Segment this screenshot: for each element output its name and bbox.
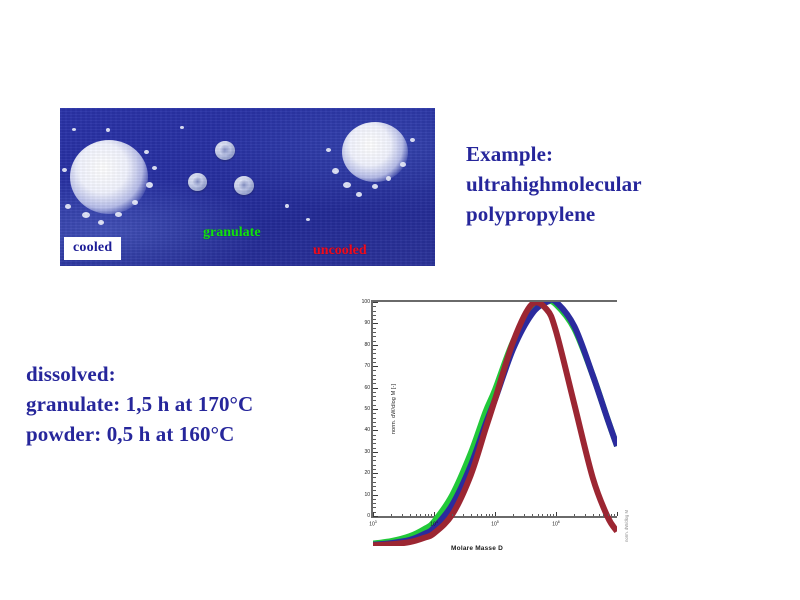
- x-tick: [574, 514, 575, 517]
- powder-fleck: [152, 166, 157, 170]
- y-tick: [373, 435, 376, 436]
- x-tick: [489, 514, 490, 517]
- y-tick: [373, 499, 376, 500]
- y-tick: [373, 430, 378, 431]
- x-tick: [608, 514, 609, 517]
- photo-caption-cooled: cooled: [64, 237, 121, 260]
- y-tick: [373, 362, 376, 363]
- y-tick: [373, 439, 376, 440]
- x-tick-label: 105: [491, 520, 499, 528]
- y-tick: [373, 323, 378, 324]
- x-tick: [452, 514, 453, 517]
- x-tick: [477, 514, 478, 517]
- y-tick: [373, 400, 376, 401]
- x-tick: [553, 514, 554, 517]
- y-tick: [373, 426, 376, 427]
- powder-fleck: [115, 212, 122, 217]
- powder-fleck: [400, 162, 406, 167]
- powder-fleck: [72, 128, 76, 131]
- y-tick: [373, 302, 378, 303]
- powder-fleck: [285, 204, 289, 208]
- y-tick: [373, 495, 378, 496]
- powder-fleck: [180, 126, 184, 129]
- x-tick: [420, 514, 421, 517]
- powder-fleck: [332, 168, 339, 174]
- y-tick: [373, 448, 376, 449]
- x-tick: [617, 512, 618, 516]
- powder-fleck: [62, 168, 67, 172]
- x-tick: [614, 514, 615, 517]
- photo-caption-uncooled: uncooled: [313, 243, 367, 259]
- granulate-pellet: [188, 173, 207, 191]
- y-tick: [373, 328, 376, 329]
- x-tick: [434, 512, 435, 516]
- powder-fleck: [372, 184, 378, 189]
- x-tick: [425, 514, 426, 517]
- granulate-pellet: [215, 141, 235, 160]
- y-tick: [373, 477, 376, 478]
- x-tick-label: 103: [369, 520, 377, 528]
- x-tick: [550, 514, 551, 517]
- x-tick: [410, 514, 411, 517]
- y-tick: [373, 315, 376, 316]
- x-tick: [431, 514, 432, 517]
- powder-fleck: [98, 220, 104, 225]
- x-tick: [599, 514, 600, 517]
- y-tick: [373, 443, 376, 444]
- powder-fleck: [356, 192, 362, 197]
- y-tick: [373, 490, 376, 491]
- y-tick: [373, 332, 376, 333]
- x-tick: [585, 514, 586, 517]
- powder-fleck: [144, 150, 149, 154]
- x-axis-label: Molare Masse D: [333, 545, 621, 552]
- y-tick: [373, 375, 376, 376]
- y-tick: [373, 516, 378, 517]
- x-tick-label: 106: [552, 520, 560, 528]
- y-tick: [373, 473, 378, 474]
- uncooled-powder-heap: [342, 122, 408, 182]
- y-tick: [373, 370, 376, 371]
- x-tick: [538, 514, 539, 517]
- x-tick: [402, 514, 403, 517]
- x-tick: [471, 514, 472, 517]
- example-text-block: Example: ultrahighmolecular polypropylen…: [466, 140, 642, 229]
- y-tick-label: 40: [364, 427, 370, 433]
- dissolved-line-3: powder: 0,5 h at 160°C: [26, 420, 253, 450]
- x-tick: [524, 514, 525, 517]
- distribution-curves: [373, 302, 617, 546]
- powder-fleck: [106, 128, 110, 132]
- y-tick: [373, 418, 376, 419]
- y-tick: [373, 336, 376, 337]
- polypropylene-samples-photo: cooled granulate uncooled: [60, 108, 435, 266]
- y-tick: [373, 465, 376, 466]
- y-tick: [373, 379, 376, 380]
- y-tick-label: 20: [364, 470, 370, 476]
- slide-canvas: cooled granulate uncooled Example: ultra…: [0, 0, 800, 600]
- plot-frame: norm. dW/dlog M [-] 01020304050607080901…: [371, 300, 617, 518]
- powder-fleck: [82, 212, 90, 218]
- x-tick: [416, 514, 417, 517]
- x-tick: [532, 514, 533, 517]
- x-tick: [492, 514, 493, 517]
- dissolved-line-1: dissolved:: [26, 360, 253, 390]
- powder-fleck: [146, 182, 153, 188]
- granulate-pellet: [234, 176, 254, 195]
- x-tick: [556, 512, 557, 516]
- powder-fleck: [386, 176, 391, 181]
- x-tick: [486, 514, 487, 517]
- y-tick: [373, 452, 378, 453]
- y-tick: [373, 409, 378, 410]
- y-tick: [373, 319, 376, 320]
- y-tick: [373, 306, 376, 307]
- y-tick: [373, 486, 376, 487]
- x-tick: [547, 514, 548, 517]
- x-tick: [603, 514, 604, 517]
- y-tick-label: 90: [364, 320, 370, 326]
- y-tick-label: 80: [364, 342, 370, 348]
- powder-fleck: [343, 182, 351, 188]
- powder-fleck: [132, 200, 138, 205]
- y-tick: [373, 456, 376, 457]
- x-tick: [391, 514, 392, 517]
- y-tick: [373, 349, 376, 350]
- y-tick-label: 70: [364, 363, 370, 369]
- powder-fleck: [410, 138, 415, 142]
- y-tick: [373, 460, 376, 461]
- photo-caption-granulate: granulate: [203, 225, 261, 241]
- dissolved-text-block: dissolved: granulate: 1,5 h at 170°C pow…: [26, 360, 253, 449]
- y-tick: [373, 353, 376, 354]
- y-tick-label: 100: [362, 299, 370, 305]
- y-tick: [373, 345, 378, 346]
- powder-fleck: [326, 148, 331, 152]
- y-tick: [373, 388, 378, 389]
- chart-side-note: norm. dW/dlog M: [624, 510, 629, 542]
- powder-fleck: [65, 204, 71, 209]
- y-tick-label: 30: [364, 449, 370, 455]
- molar-mass-distribution-chart: norm. dW/dlog M [-] 01020304050607080901…: [333, 292, 621, 554]
- y-tick: [373, 311, 376, 312]
- y-tick: [373, 469, 376, 470]
- x-tick: [373, 512, 374, 516]
- y-tick-label: 50: [364, 406, 370, 412]
- dissolved-line-2: granulate: 1,5 h at 170°C: [26, 390, 253, 420]
- y-tick: [373, 422, 376, 423]
- powder-fleck: [306, 218, 310, 221]
- y-tick-label: 10: [364, 492, 370, 498]
- x-tick: [513, 514, 514, 517]
- y-tick: [373, 341, 376, 342]
- example-line-1: Example:: [466, 140, 642, 170]
- y-tick: [373, 503, 376, 504]
- y-tick: [373, 396, 376, 397]
- x-tick: [593, 514, 594, 517]
- x-tick: [542, 514, 543, 517]
- y-tick: [373, 405, 376, 406]
- x-tick-label: 104: [430, 520, 438, 528]
- y-tick: [373, 366, 378, 367]
- y-tick: [373, 392, 376, 393]
- y-tick: [373, 482, 376, 483]
- y-tick-label: 0: [367, 513, 370, 519]
- x-tick: [428, 514, 429, 517]
- example-line-3: polypropylene: [466, 200, 642, 230]
- x-tick: [495, 512, 496, 516]
- y-tick: [373, 413, 376, 414]
- example-line-2: ultrahighmolecular: [466, 170, 642, 200]
- x-tick: [611, 514, 612, 517]
- y-tick-label: 60: [364, 385, 370, 391]
- x-tick: [463, 514, 464, 517]
- x-tick: [481, 514, 482, 517]
- y-tick: [373, 507, 376, 508]
- y-tick: [373, 383, 376, 384]
- y-tick: [373, 358, 376, 359]
